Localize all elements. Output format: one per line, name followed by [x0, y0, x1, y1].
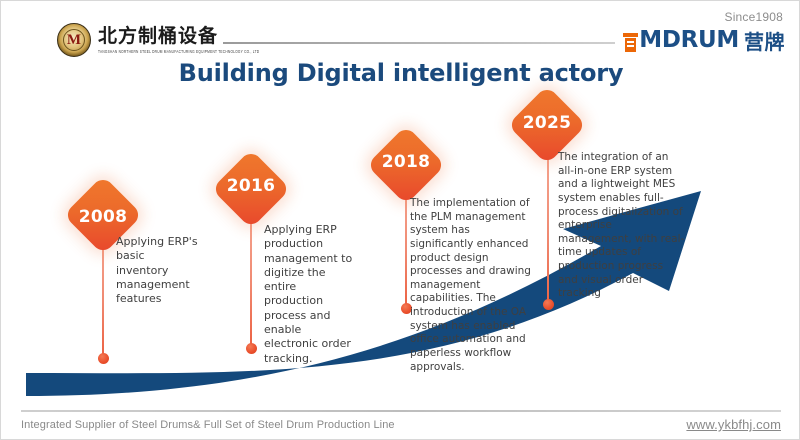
timeline-stem: [547, 146, 549, 308]
timeline-year-label: 2025: [507, 115, 587, 132]
timeline-description: The implementation of the PLM management…: [410, 197, 534, 374]
header-divider: [223, 42, 615, 44]
since-label: Since1908: [724, 10, 783, 24]
brand-wordmark-cn: 营牌: [744, 32, 785, 52]
seal-emblem-icon: M: [57, 23, 91, 57]
drum-icon-rib-1: [627, 41, 634, 43]
timeline-year-label: 2008: [63, 209, 143, 226]
footer-tagline: Integrated Supplier of Steel Drums& Full…: [21, 419, 395, 431]
timeline-dot: [98, 353, 109, 364]
drum-icon-cap: [623, 33, 638, 37]
timeline-description: Applying ERP's basic inventory managemen…: [116, 235, 200, 306]
brand-wordmark: MDRUM: [639, 29, 739, 52]
timeline-description: The integration of an all-in-one ERP sys…: [558, 151, 686, 301]
slide-canvas: M 北方制桶设备 TANGSHAN NORTHERN STEEL DRUM MA…: [0, 0, 800, 440]
seal-letter: M: [67, 33, 81, 48]
company-logo-left-text: 北方制桶设备 TANGSHAN NORTHERN STEEL DRUM MANU…: [98, 27, 259, 53]
drum-icon-rib-2: [627, 45, 634, 47]
brand-logo-emdrum: MDRUM 营牌: [623, 29, 785, 52]
drum-icon: [623, 33, 638, 52]
page-title: Building Digital intelligent actory: [1, 59, 800, 87]
timeline-year-label: 2018: [366, 154, 446, 171]
company-logo-left: M 北方制桶设备 TANGSHAN NORTHERN STEEL DRUM MA…: [57, 23, 259, 57]
timeline-dot: [543, 299, 554, 310]
timeline-stem: [250, 206, 252, 346]
brand-wordmark-text: MDRUM: [639, 27, 739, 53]
timeline-dot: [246, 343, 257, 354]
footer-website-link[interactable]: www.ykbfhj.com: [686, 417, 781, 432]
footer-divider: [21, 410, 781, 412]
seal-inner-ring: M: [63, 29, 85, 51]
timeline-description: Applying ERP production management to di…: [264, 223, 354, 366]
timeline-year-label: 2016: [211, 178, 291, 195]
company-name-sub: TANGSHAN NORTHERN STEEL DRUM MANUFACTURI…: [98, 49, 259, 54]
